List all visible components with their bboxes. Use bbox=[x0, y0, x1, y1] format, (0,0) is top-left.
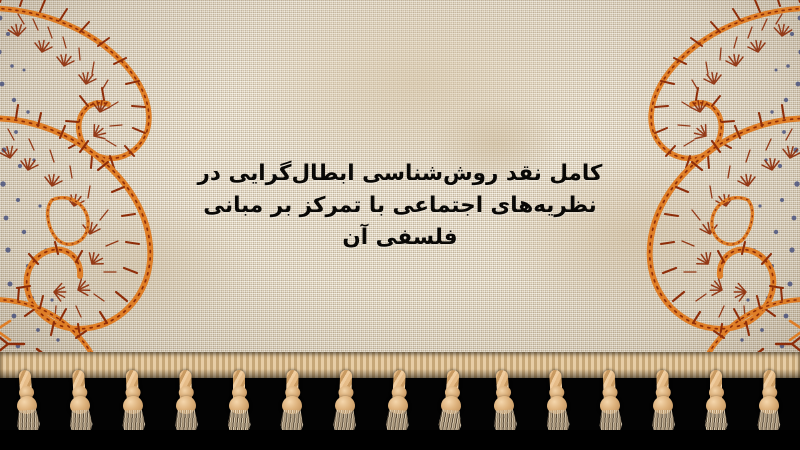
title-card-stage: کامل نقد روش‌شناسی ابطال‌گرایی در نظریه‌… bbox=[0, 0, 800, 450]
black-backdrop bbox=[0, 430, 800, 450]
textile-background bbox=[0, 0, 800, 378]
